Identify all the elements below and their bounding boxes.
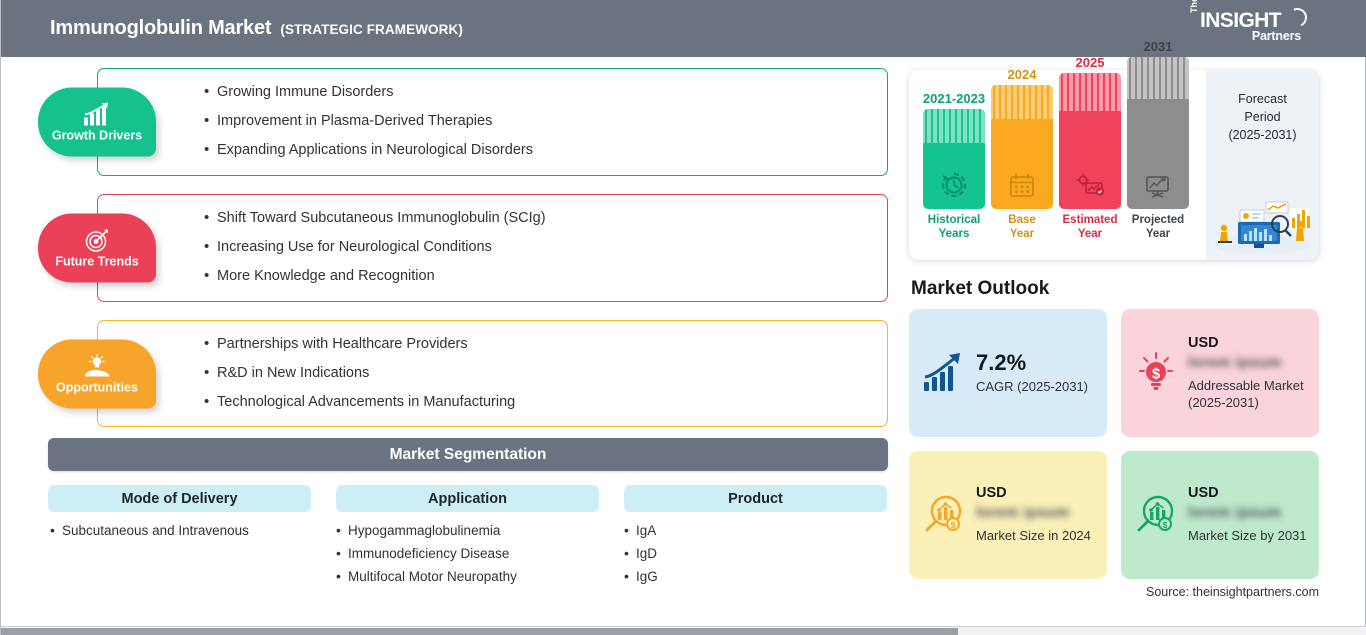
segmentation-column-header: Mode of Delivery [48, 485, 311, 512]
card-currency-label: USD [1188, 335, 1307, 351]
bar-chart-arrow-icon [921, 350, 967, 396]
calendar-icon [1007, 170, 1037, 200]
forecast-period-line-2: Period [1206, 108, 1319, 126]
pillar-tag-label: Opportunities [56, 380, 138, 394]
market-segmentation-banner: Market Segmentation [48, 438, 888, 471]
bullet-item: More Knowledge and Recognition [204, 269, 867, 285]
bar-year-label: 2025 [1076, 55, 1105, 70]
list-item: IgG [624, 567, 887, 587]
pillar-future-trends: Future Trends Shift Toward Subcutaneous … [97, 194, 888, 302]
bar-stripe-pattern [1127, 57, 1189, 99]
chart-bar-estimated-year: 2025 [1059, 55, 1121, 242]
list-item: Immunodeficiency Disease [336, 544, 599, 564]
forecast-period-panel: Forecast Period (2025-2031) [1206, 70, 1319, 260]
scrollbar-thumb[interactable] [1, 628, 958, 635]
outlook-card-cagr: 7.2% CAGR (2025-2031) [909, 309, 1107, 437]
card-text: 7.2% CAGR (2025-2031) [976, 351, 1088, 394]
presentation-chart-icon [1143, 170, 1173, 200]
card-currency-label: USD [1188, 485, 1307, 501]
svg-text:$: $ [1152, 366, 1161, 383]
data-analytics-illustration [1210, 194, 1315, 254]
pillar-body: Partnerships with Healthcare Providers R… [98, 321, 887, 427]
segmentation-column-application: Application Hypogammaglobulinemia Immuno… [336, 485, 599, 586]
bar-shape [923, 109, 985, 209]
magnifier-chart-icon: $ [921, 492, 967, 538]
infographic-page: Immunoglobulin Market (STRATEGIC FRAMEWO… [0, 0, 1366, 635]
clock-history-icon [939, 170, 969, 200]
bullet-item: R&D in New Indications [204, 366, 867, 382]
gear-chart-icon [1075, 170, 1105, 200]
logo-swoosh-icon [1285, 5, 1309, 29]
bullet-item: Shift Toward Subcutaneous Immunoglobulin… [204, 211, 867, 227]
segmentation-column-product: Product IgA IgD IgG [624, 485, 887, 586]
card-blurred-value: lorem ipsum [976, 504, 1091, 521]
pillar-growth-drivers: Growth Drivers Growing Immune Disorders … [97, 68, 888, 176]
forecast-period-chart: 2021-2023 [909, 70, 1319, 260]
lightbulb-dollar-icon: $ [1133, 350, 1179, 396]
pillar-tag-opportunities[interactable]: Opportunities [38, 339, 156, 408]
cagr-label: CAGR (2025-2031) [976, 378, 1088, 395]
forecast-period-line-1: Forecast [1206, 90, 1319, 108]
bar-chart-growth-icon [82, 101, 112, 127]
pillar-body: Shift Toward Subcutaneous Immunoglobulin… [98, 195, 887, 301]
svg-text:$: $ [1163, 520, 1168, 530]
page-subtitle: (STRATEGIC FRAMEWORK) [280, 22, 463, 37]
magnifier-chart-icon: $ [1133, 492, 1179, 538]
outlook-card-addressable-market: $ USD lorem ipsum Addressable Market (20… [1121, 309, 1319, 437]
horizontal-scrollbar[interactable] [1, 626, 1366, 635]
bar-caption: Estimated Year [1063, 214, 1118, 242]
bar-caption: Historical Years [928, 214, 980, 242]
card-description: Market Size by 2031 [1188, 527, 1307, 544]
pillar-tag-label: Future Trends [55, 254, 138, 268]
left-column: Growth Drivers Growing Immune Disorders … [1, 57, 901, 586]
chart-bar-projected-year: 2031 [1127, 39, 1189, 242]
bullet-item: Expanding Applications in Neurological D… [204, 143, 867, 159]
card-description: Addressable Market (2025-2031) [1188, 377, 1307, 411]
pillar-tag-future-trends[interactable]: Future Trends [38, 213, 156, 282]
bar-caption: Projected Year [1132, 214, 1184, 242]
svg-text:$: $ [951, 520, 956, 530]
bullet-item: Improvement in Plasma-Derived Therapies [204, 114, 867, 130]
pillar-tag-label: Growth Drivers [52, 128, 142, 142]
list-item: IgA [624, 521, 887, 541]
logo-partners-text: Partners [1252, 29, 1301, 43]
insight-partners-logo: The INSIGHT Partners [1189, 8, 1309, 50]
bar-shape [1127, 57, 1189, 209]
card-text: USD lorem ipsum Market Size in 2024 [976, 485, 1091, 544]
list-item: Multifocal Motor Neuropathy [336, 567, 599, 587]
bar-stripe-pattern [1059, 73, 1121, 111]
bar-caption: Base Year [1008, 214, 1036, 242]
pillar-tag-growth-drivers[interactable]: Growth Drivers [38, 87, 156, 156]
bar-shape [991, 85, 1053, 209]
bar-year-label: 2024 [1008, 67, 1037, 82]
bar-stripe-pattern [923, 109, 985, 143]
bullet-item: Growing Immune Disorders [204, 85, 867, 101]
card-currency-label: USD [976, 485, 1091, 501]
segmentation-list: Hypogammaglobulinemia Immunodeficiency D… [336, 521, 599, 586]
market-outlook-title: Market Outlook [911, 278, 1329, 300]
segmentation-column-header: Application [336, 485, 599, 512]
pillar-opportunities: Opportunities Partnerships with Healthca… [97, 320, 888, 428]
card-blurred-value: lorem ipsum [1188, 504, 1307, 521]
outlook-card-market-size-2024: $ USD lorem ipsum Market Size in 2024 [909, 451, 1107, 579]
page-title: Immunoglobulin Market [50, 17, 271, 40]
logo-the-text: The [1189, 0, 1199, 13]
segmentation-columns: Mode of Delivery Subcutaneous and Intrav… [48, 485, 888, 586]
card-text: USD lorem ipsum Market Size by 2031 [1188, 485, 1307, 544]
card-text: USD lorem ipsum Addressable Market (2025… [1188, 335, 1307, 411]
bar-year-label: 2021-2023 [923, 91, 985, 106]
list-item: Hypogammaglobulinemia [336, 521, 599, 541]
chart-bar-historical-years: 2021-2023 [923, 91, 985, 242]
list-item: IgD [624, 544, 887, 564]
source-attribution: Source: theinsightpartners.com [909, 585, 1319, 599]
card-description: Market Size in 2024 [976, 527, 1091, 544]
right-column: 2021-2023 [909, 70, 1329, 599]
segmentation-list: Subcutaneous and Intravenous [50, 521, 311, 541]
bar-shape [1059, 73, 1121, 209]
bullet-item: Increasing Use for Neurological Conditio… [204, 240, 867, 256]
list-item: Subcutaneous and Intravenous [50, 521, 311, 541]
segmentation-list: IgA IgD IgG [624, 521, 887, 586]
forecast-period-range: (2025-2031) [1206, 126, 1319, 144]
segmentation-column-header: Product [624, 485, 887, 512]
outlook-cards: 7.2% CAGR (2025-2031) [909, 309, 1319, 579]
lightbulb-hand-icon [82, 353, 112, 379]
bullet-item: Technological Advancements in Manufactur… [204, 395, 867, 411]
outlook-card-market-size-2031: $ USD lorem ipsum Market Size by 2031 [1121, 451, 1319, 579]
card-blurred-value: lorem ipsum [1188, 354, 1307, 371]
chart-bar-base-year: 2024 [991, 67, 1053, 242]
target-dart-icon [82, 227, 112, 253]
bar-year-label: 2031 [1144, 39, 1173, 54]
segmentation-column-mode-of-delivery: Mode of Delivery Subcutaneous and Intrav… [48, 485, 311, 586]
header-title-group: Immunoglobulin Market (STRATEGIC FRAMEWO… [50, 17, 463, 40]
bullet-item: Partnerships with Healthcare Providers [204, 337, 867, 353]
cagr-value: 7.2% [976, 351, 1088, 375]
pillar-body: Growing Immune Disorders Improvement in … [98, 69, 887, 175]
chart-bars-area: 2021-2023 [909, 70, 1206, 260]
bar-stripe-pattern [991, 85, 1053, 119]
